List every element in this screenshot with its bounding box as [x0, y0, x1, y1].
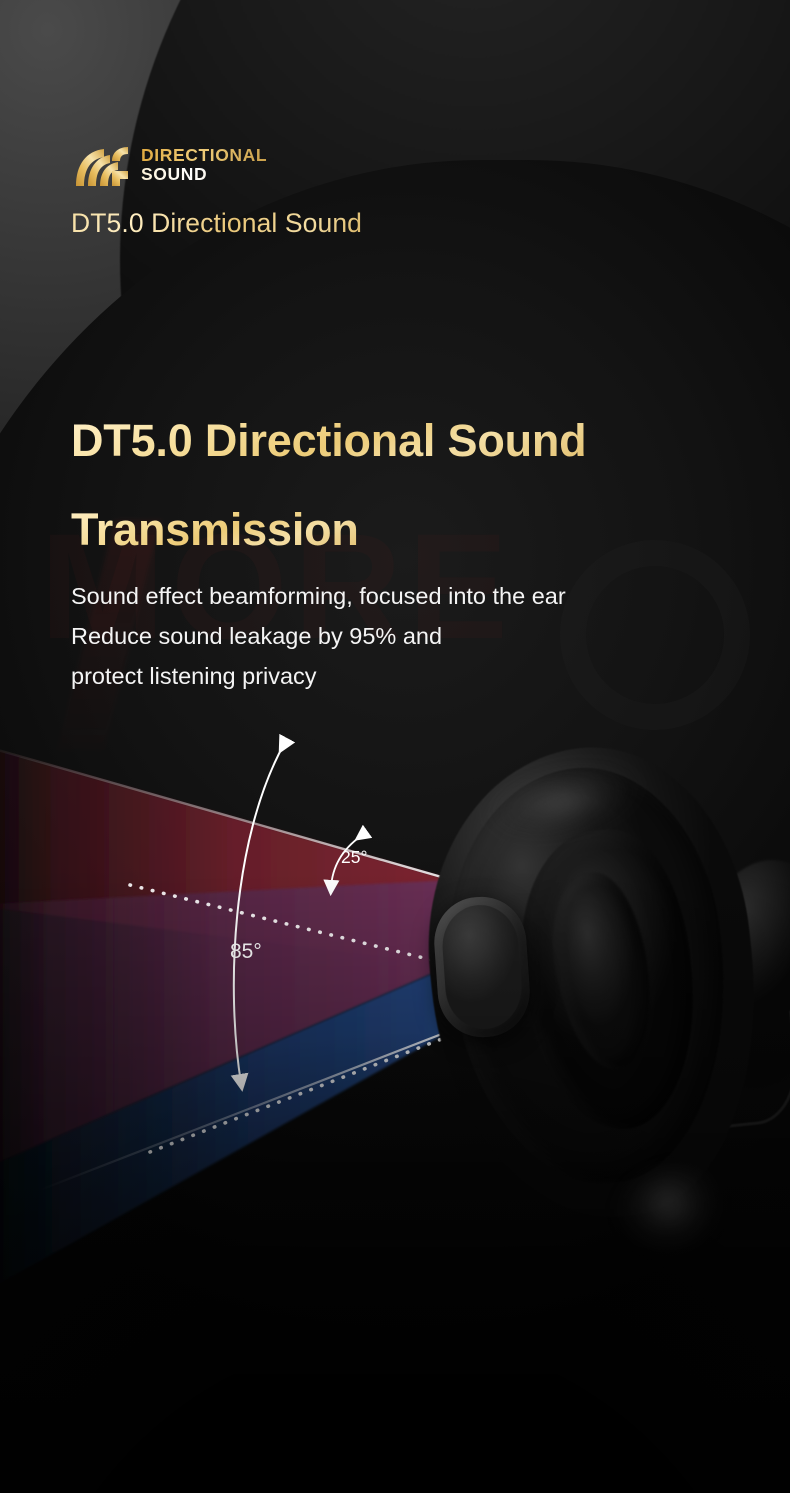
- product-feature-poster: MORE DIRECTIONAL SOUND DT5.0 Directional…: [0, 0, 790, 1493]
- background-vignette: [0, 0, 790, 1493]
